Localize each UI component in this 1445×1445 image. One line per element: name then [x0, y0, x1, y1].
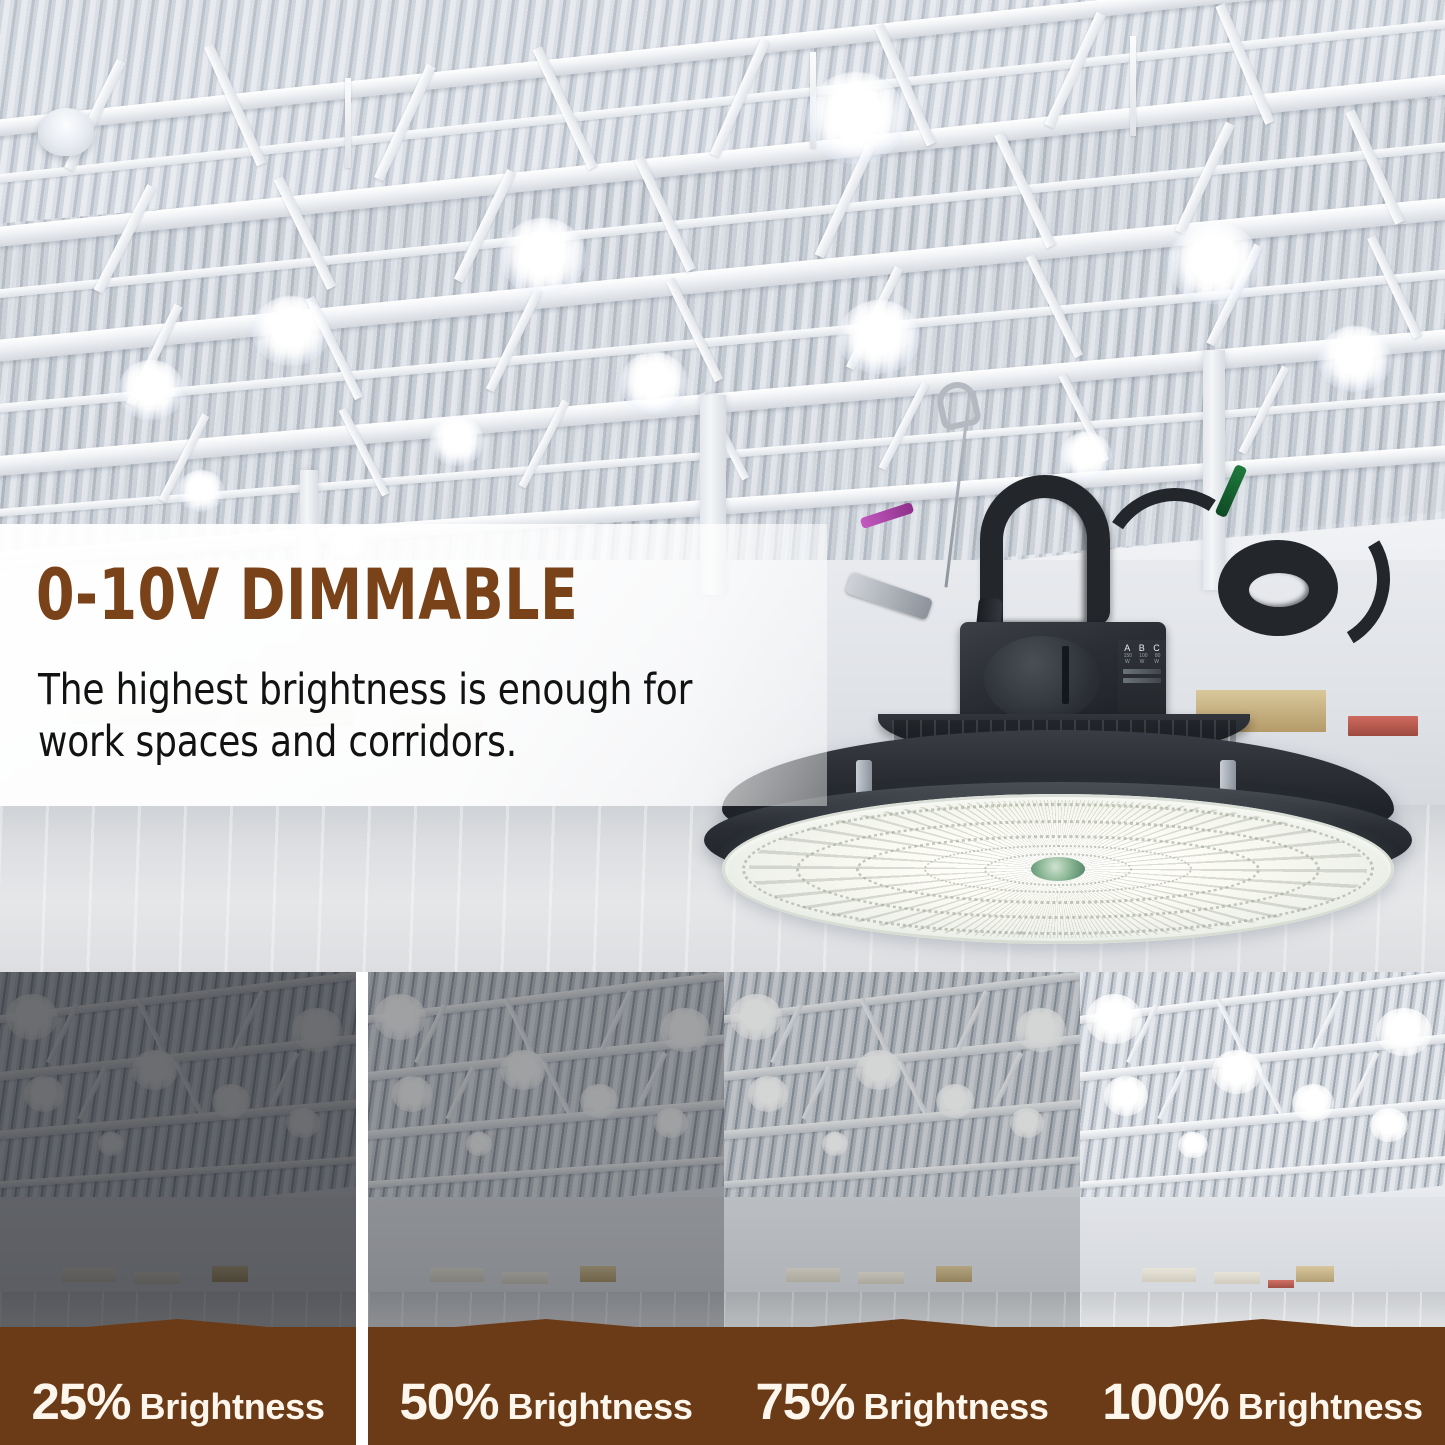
ceiling-lamp-glow [1168, 222, 1260, 304]
brightness-dim-veil [724, 972, 1080, 1374]
brightness-percent: 75% [755, 1373, 854, 1430]
ceiling-lamp-glow [838, 300, 920, 374]
selector-switch-bar [1123, 678, 1161, 683]
ceiling-lamp-glow [500, 218, 586, 296]
brightness-percent: 25% [31, 1373, 130, 1430]
label-band-tent [0, 1319, 356, 1353]
ceiling-lamp-glow [1318, 326, 1392, 392]
mounting-hook-latch [845, 572, 933, 621]
abc-unit-row: WWW [1120, 659, 1164, 665]
brightness-label: 25%Brightness [0, 1372, 356, 1431]
ceiling-lamp-glow [118, 360, 184, 420]
brightness-dim-veil [1080, 972, 1445, 1374]
ceiling-lamp-glow [178, 470, 224, 512]
ceiling-lamp-glow [620, 352, 688, 414]
brightness-panel[interactable]: 25%Brightness [0, 972, 356, 1445]
brightness-scene-image [724, 972, 1080, 1374]
ceiling-lamp-glow [430, 416, 484, 466]
hanger-rod [345, 78, 351, 168]
pink-marker-cable [860, 502, 915, 529]
cable-loop [1224, 488, 1406, 670]
page-title: 0-10V DIMMABLE [36, 560, 578, 630]
brightness-dim-veil [368, 972, 724, 1374]
brightness-label: 75%Brightness [724, 1372, 1080, 1431]
brightness-dim-veil [0, 972, 356, 1374]
headline-overlay-card: 0-10V DIMMABLE The highest brightness is… [0, 524, 827, 806]
brightness-percent: 50% [399, 1373, 498, 1430]
brightness-word: Brightness [508, 1386, 693, 1427]
brightness-percent: 100% [1102, 1373, 1228, 1430]
ceiling-lamp-glow [806, 72, 906, 164]
brightness-panel[interactable]: 50%Brightness [368, 972, 724, 1445]
label-band-tent [1080, 1319, 1445, 1353]
brightness-label: 50%Brightness [368, 1372, 724, 1431]
label-band-tent [368, 1319, 724, 1353]
brightness-panel[interactable]: 75%Brightness [724, 972, 1080, 1445]
brightness-scene-image [0, 972, 356, 1374]
brightness-comparison-row: 25%Brightness [0, 972, 1445, 1445]
ceiling-lamp-fixture [38, 108, 94, 156]
brightness-word: Brightness [864, 1386, 1049, 1427]
wattage-selector-label: ABC 15010080 WWW [1118, 640, 1166, 722]
selector-switch-bar [1123, 669, 1161, 674]
brightness-word: Brightness [140, 1386, 325, 1427]
brightness-scene-image [368, 972, 724, 1374]
brightness-label: 100%Brightness [1080, 1372, 1445, 1431]
driver-access-cover [984, 636, 1100, 722]
brightness-word: Brightness [1238, 1386, 1423, 1427]
hanger-rod [1130, 36, 1136, 136]
led-lens-array [722, 794, 1394, 944]
abc-channel-row: ABC [1120, 643, 1164, 653]
brightness-panel[interactable]: 100%Brightness [1080, 972, 1445, 1445]
product-feature-image: ABC 15010080 WWW 0-10V DIMMABLE The high… [0, 0, 1445, 1445]
ceiling-lamp-glow [252, 296, 330, 366]
subtitle-text: The highest brightness is enough for wor… [38, 664, 773, 769]
label-band-tent [724, 1319, 1080, 1353]
lens-outer-edge [722, 794, 1394, 944]
brightness-scene-image [1080, 972, 1445, 1374]
